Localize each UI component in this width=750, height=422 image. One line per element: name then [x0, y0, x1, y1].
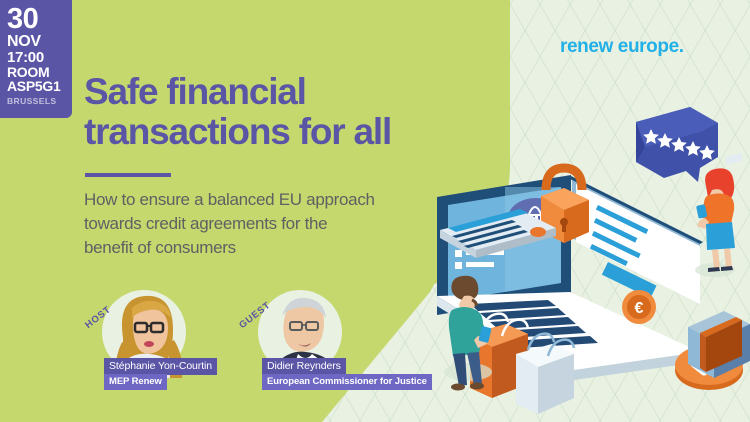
speaker-role-host: MEP Renew: [104, 374, 167, 390]
event-month: NOV: [7, 34, 72, 50]
speaker-role-guest: European Commissioner for Justice: [262, 374, 432, 390]
page-subtitle: How to ensure a balanced EU approach tow…: [84, 188, 474, 260]
title-divider: [85, 173, 171, 177]
subtitle-line-1: How to ensure a balanced EU approach: [84, 188, 474, 212]
title-line-1: Safe financial: [84, 72, 484, 112]
svg-text:€: €: [635, 300, 644, 317]
title-line-2: transactions for all: [84, 112, 484, 152]
euro-coin: €: [622, 290, 656, 324]
subtitle-line-2: towards credit agreements for the: [84, 212, 474, 236]
event-day: 30: [7, 6, 72, 34]
event-poster: $: [0, 0, 750, 422]
speaker-name-guest: Didier Reynders: [262, 358, 346, 375]
event-time: 17:00: [7, 50, 72, 65]
speaker-card-host: HOST Stéphanie Yon-Courtin MEP Renew: [88, 286, 248, 396]
subtitle-line-3: benefit of consumers: [84, 236, 474, 260]
event-room-number: ASP5G1: [7, 79, 72, 93]
event-room-label: ROOM: [7, 65, 72, 79]
renew-europe-logo: renew europe.: [560, 36, 684, 58]
speaker-name-host: Stéphanie Yon-Courtin: [104, 358, 217, 375]
event-date-badge: 30 NOV 17:00 ROOM ASP5G1 BRUSSELS: [0, 0, 72, 118]
speaker-card-guest: GUEST Didier Reynders European Commissio…: [240, 286, 440, 396]
event-city: BRUSSELS: [7, 96, 72, 106]
page-title: Safe financial transactions for all: [84, 72, 484, 152]
